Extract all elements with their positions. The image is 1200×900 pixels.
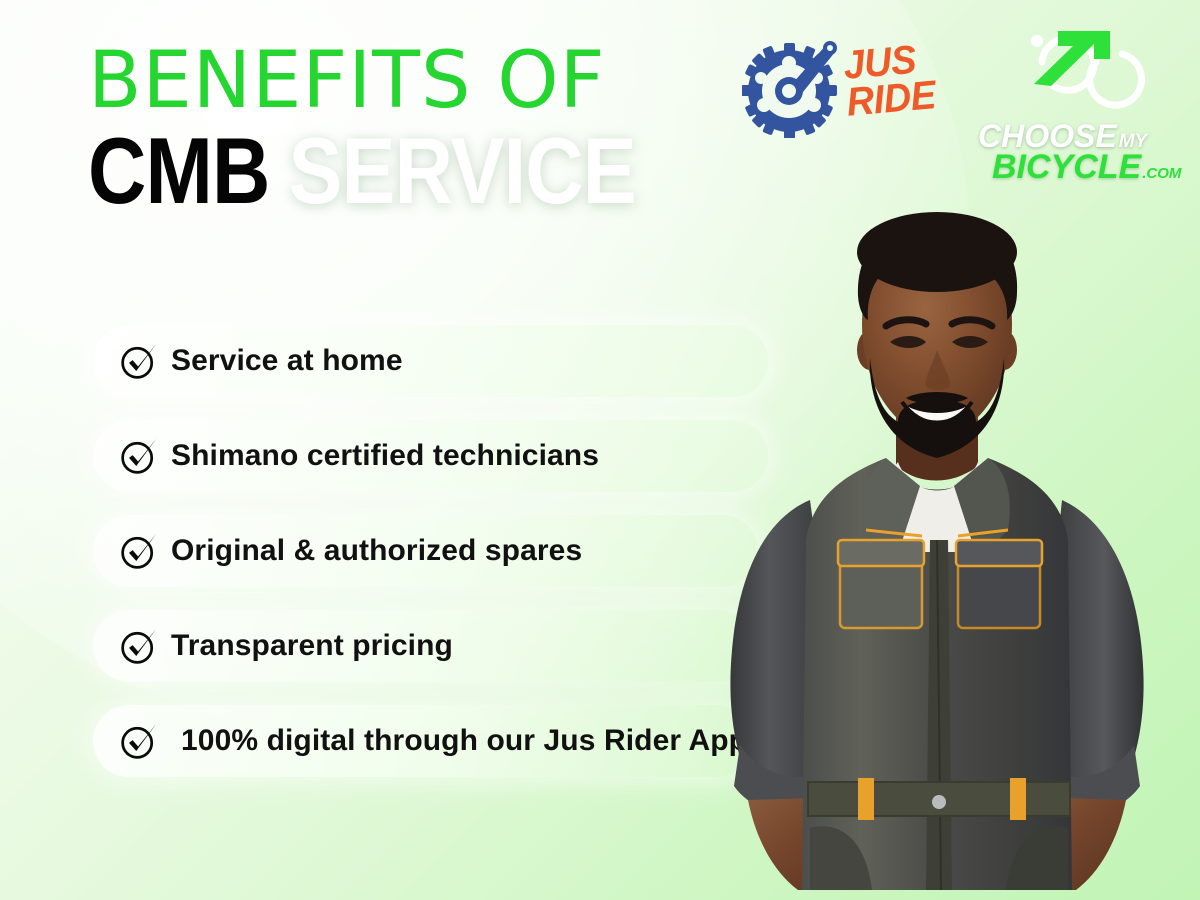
headline-brand-cmb: CMB bbox=[88, 118, 270, 223]
headline-line-cmb-service: CMBSERVICE bbox=[88, 124, 636, 218]
jus-ride-word-ride: RIDE bbox=[845, 77, 937, 121]
benefit-label-3: Original & authorized spares bbox=[171, 534, 582, 568]
headline-word-service: SERVICE bbox=[288, 118, 635, 223]
head bbox=[857, 212, 1017, 458]
benefit-row-4[interactable]: Transparent pricing bbox=[93, 610, 753, 682]
jus-ride-wordmark: JUS RIDE bbox=[842, 40, 942, 121]
coverall bbox=[802, 458, 1072, 890]
chest-pockets bbox=[838, 540, 1042, 628]
logo-choosemybicycle[interactable]: CHOOSEMY BICYCLE.COM bbox=[978, 26, 1178, 156]
logo-jus-ride[interactable]: JUS RIDE bbox=[742, 32, 942, 144]
benefit-label-4: Transparent pricing bbox=[171, 629, 453, 663]
check-circle-icon bbox=[119, 531, 159, 571]
benefit-row-5[interactable]: 100% digital through our Jus Rider App bbox=[93, 705, 753, 777]
check-circle-icon bbox=[119, 436, 159, 476]
benefit-row-3[interactable]: Original & authorized spares bbox=[93, 515, 758, 587]
check-circle-icon bbox=[119, 626, 159, 666]
bicycle-arrow-icon bbox=[994, 26, 1162, 118]
benefits-list: Service at home Shimano certified techni… bbox=[93, 325, 768, 800]
benefit-row-1[interactable]: Service at home bbox=[93, 325, 768, 397]
benefit-label-5: 100% digital through our Jus Rider App bbox=[181, 724, 747, 758]
check-circle-icon bbox=[119, 721, 159, 761]
cmb-word-bicycle: BICYCLE bbox=[992, 148, 1141, 186]
right-arm bbox=[1016, 500, 1144, 890]
benefit-label-2: Shimano certified technicians bbox=[171, 439, 599, 473]
cmb-wordmark-line2: BICYCLE.COM bbox=[992, 148, 1181, 187]
headline-line-benefits-of: BENEFITS OF bbox=[88, 44, 725, 118]
headline-block: BENEFITS OF CMBSERVICE bbox=[88, 44, 725, 218]
saddle-dot bbox=[1031, 35, 1043, 47]
cmb-word-com: .COM bbox=[1142, 165, 1181, 182]
benefit-row-2[interactable]: Shimano certified technicians bbox=[93, 420, 768, 492]
check-circle-icon bbox=[119, 341, 159, 381]
belt bbox=[808, 778, 1070, 820]
benefits-poster: BENEFITS OF CMBSERVICE bbox=[0, 0, 1200, 900]
benefit-label-1: Service at home bbox=[171, 344, 403, 378]
chainring-crank-icon bbox=[742, 34, 840, 138]
